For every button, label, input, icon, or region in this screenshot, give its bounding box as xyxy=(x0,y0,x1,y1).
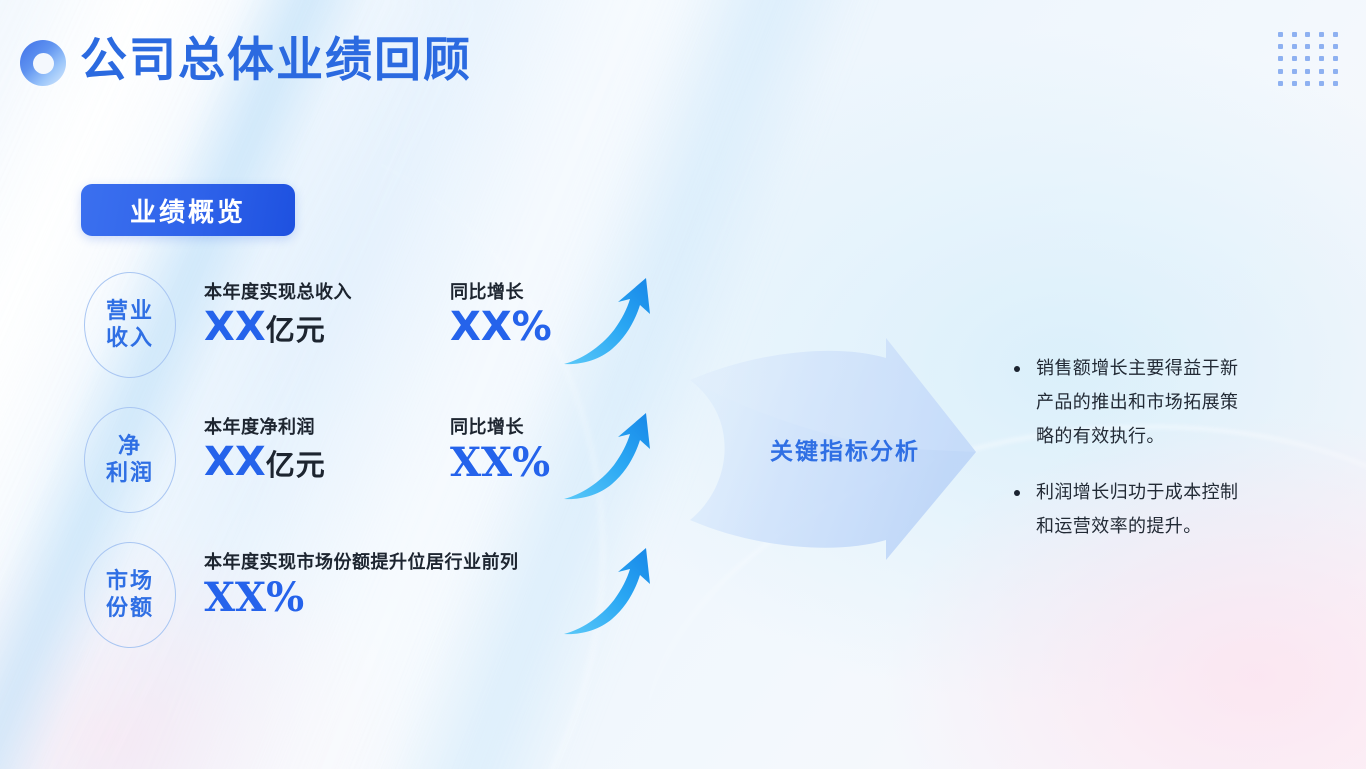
page-title: 公司总体业绩回顾 xyxy=(80,28,472,94)
arrow-up-right-icon xyxy=(556,538,661,643)
metric-value-number: XX xyxy=(204,439,266,485)
metric-row: 市场 份额 本年度实现市场份额提升位居行业前列 XX% xyxy=(78,532,678,667)
section-badge-label: 业绩概览 xyxy=(130,192,246,229)
metric-circle-line1: 净 xyxy=(118,433,142,460)
metric-circle-line2: 份额 xyxy=(106,595,154,622)
metric-label: 本年度实现总收入 xyxy=(204,278,352,304)
slide-canvas: 公司总体业绩回顾 业绩概览 营业 收入 本年度实现总收入 XX亿元 同比增长 X… xyxy=(0,0,1366,769)
metric-circle: 市场 份额 xyxy=(84,542,176,648)
analysis-bullet-list: 销售额增长主要得益于新产品的推出和市场拓展策略的有效执行。 利润增长归功于成本控… xyxy=(1010,352,1240,566)
analysis-arrow-label: 关键指标分析 xyxy=(745,432,945,466)
growth-value: XX% xyxy=(450,439,550,486)
metric-value-number: XX xyxy=(204,304,266,350)
metric-value-unit: 亿元 xyxy=(266,448,326,482)
growth-label: 同比增长 xyxy=(450,413,524,439)
slide-header: 公司总体业绩回顾 xyxy=(0,0,1366,118)
arrow-up-right-icon xyxy=(556,403,661,508)
metric-circle-line1: 营业 xyxy=(106,298,154,325)
metric-row: 净 利润 本年度净利润 XX亿元 同比增长 XX% xyxy=(78,397,678,532)
metric-value-number: XX% xyxy=(204,574,304,621)
dot-grid-icon xyxy=(1274,28,1342,90)
ring-icon xyxy=(20,40,66,86)
section-badge: 业绩概览 xyxy=(81,184,295,236)
metric-circle: 营业 收入 xyxy=(84,272,176,378)
metric-value: XX% xyxy=(204,574,304,621)
metric-circle-line2: 利润 xyxy=(106,460,154,487)
metric-circle: 净 利润 xyxy=(84,407,176,513)
metric-row: 营业 收入 本年度实现总收入 XX亿元 同比增长 XX% xyxy=(78,262,678,397)
metrics-list: 营业 收入 本年度实现总收入 XX亿元 同比增长 XX% xyxy=(78,262,678,667)
list-item: 销售额增长主要得益于新产品的推出和市场拓展策略的有效执行。 xyxy=(1010,352,1240,454)
growth-label: 同比增长 xyxy=(450,278,524,304)
arrow-up-right-icon xyxy=(556,268,661,373)
metric-circle-line2: 收入 xyxy=(106,325,154,352)
list-item: 利润增长归功于成本控制和运营效率的提升。 xyxy=(1010,476,1240,544)
metric-label: 本年度实现市场份额提升位居行业前列 xyxy=(204,548,519,574)
metric-label: 本年度净利润 xyxy=(204,413,315,439)
metric-value: XX亿元 xyxy=(204,304,326,350)
metric-circle-line1: 市场 xyxy=(106,568,154,595)
growth-value: XX% xyxy=(450,304,552,350)
metric-value: XX亿元 xyxy=(204,439,326,485)
metric-value-unit: 亿元 xyxy=(266,313,326,347)
